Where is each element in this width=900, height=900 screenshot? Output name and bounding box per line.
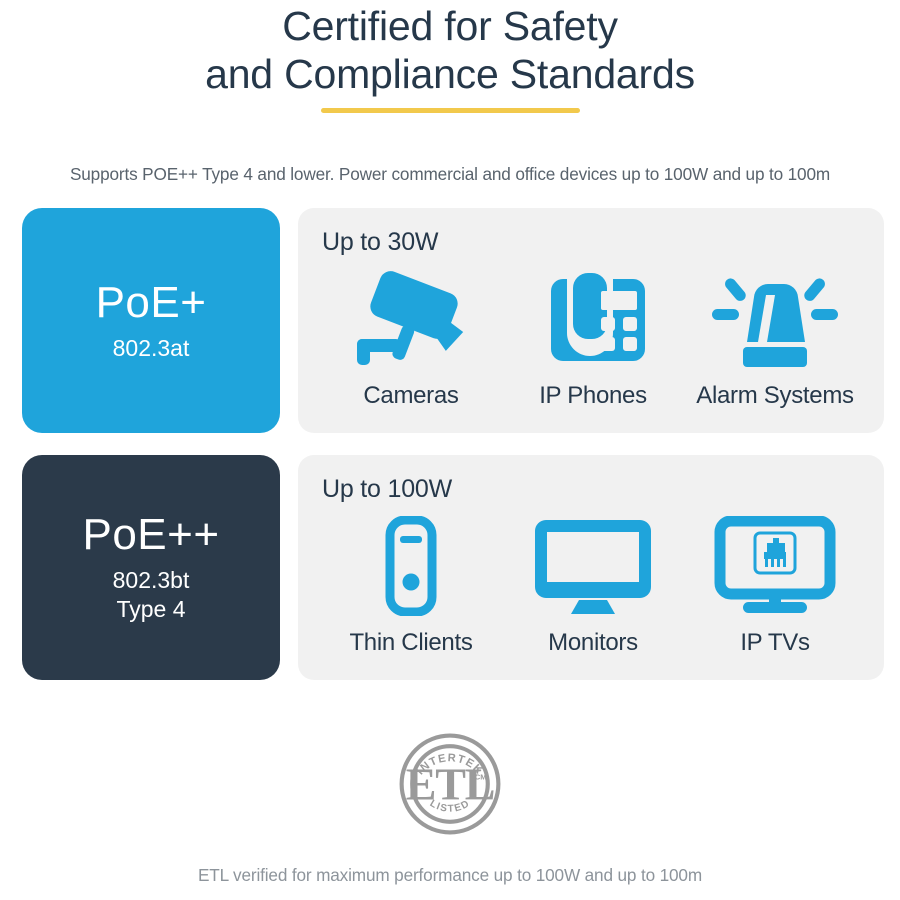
device-caption-alarm-systems: Alarm Systems	[696, 382, 853, 410]
poe-plus-wattage-label: Up to 30W	[322, 228, 872, 257]
poe-plus-devices-panel: Up to 30W	[298, 208, 884, 433]
poe-plusplus-badge-standard: 802.3bt Type 4	[113, 566, 190, 624]
page-header: Certified for Safety and Compliance Stan…	[0, 0, 900, 113]
device-caption-ip-tvs: IP TVs	[740, 629, 809, 657]
rj45-connector-glyph	[764, 538, 786, 567]
thin-client-icon	[384, 510, 438, 622]
poe-plusplus-standard-text: 802.3bt	[113, 567, 190, 593]
poe-plus-device-list: Cameras	[320, 263, 872, 410]
page-title-line-2: and Compliance Standards	[0, 50, 900, 98]
etl-listed-intertek-logo: INTERTEK LISTED ETL CM	[391, 725, 509, 843]
device-item-alarm-systems: Alarm Systems	[684, 263, 866, 410]
title-underline-wrap	[0, 108, 900, 113]
device-item-ip-phones: IP Phones	[502, 263, 684, 410]
poe-plusplus-row: PoE++ 802.3bt Type 4 Up to 100W	[22, 455, 880, 680]
etl-verification-note: ETL verified for maximum performance up …	[0, 865, 900, 886]
poe-plusplus-badge: PoE++ 802.3bt Type 4	[22, 455, 280, 680]
page-title-line-1: Certified for Safety	[282, 3, 618, 49]
poe-plus-badge: PoE+ 802.3at	[22, 208, 280, 433]
device-caption-ip-phones: IP Phones	[539, 382, 647, 410]
poe-plus-badge-standard: 802.3at	[113, 334, 190, 363]
poe-plus-badge-title: PoE+	[96, 279, 207, 327]
poe-comparison-grid: PoE+ 802.3at Up to 30W	[0, 208, 900, 680]
certification-logo-wrap: INTERTEK LISTED ETL CM	[0, 725, 900, 843]
alarm-beacon-icon	[710, 263, 840, 375]
poe-plusplus-device-list: Thin Clients Monitors	[320, 510, 872, 657]
page-footer: INTERTEK LISTED ETL CM ETL verified for …	[0, 725, 900, 886]
device-caption-monitors: Monitors	[548, 629, 638, 657]
security-camera-icon	[351, 263, 471, 375]
device-item-ip-tvs: IP TVs	[684, 510, 866, 657]
monitor-icon	[531, 510, 655, 622]
page-title: Certified for Safety and Compliance Stan…	[0, 2, 900, 98]
poe-plusplus-badge-title: PoE++	[82, 511, 219, 559]
etl-logo-center-text: ETL	[406, 758, 495, 809]
poe-plusplus-devices-panel: Up to 100W Thin Clients	[298, 455, 884, 680]
etl-logo-superscript: CM	[475, 772, 487, 781]
device-item-monitors: Monitors	[502, 510, 684, 657]
poe-plus-row: PoE+ 802.3at Up to 30W	[22, 208, 880, 433]
device-item-thin-clients: Thin Clients	[320, 510, 502, 657]
poe-plusplus-wattage-label: Up to 100W	[322, 475, 872, 504]
poe-certification-infographic: { "header": { "title_line1": "Certified …	[0, 0, 900, 900]
poe-plusplus-type-text: Type 4	[116, 596, 185, 622]
device-caption-cameras: Cameras	[363, 382, 458, 410]
ip-phone-icon	[541, 263, 645, 375]
device-item-cameras: Cameras	[320, 263, 502, 410]
device-caption-thin-clients: Thin Clients	[349, 629, 472, 657]
support-summary-text: Supports POE++ Type 4 and lower. Power c…	[0, 164, 900, 185]
title-underline-accent	[321, 108, 580, 113]
ip-tv-icon	[713, 510, 837, 622]
